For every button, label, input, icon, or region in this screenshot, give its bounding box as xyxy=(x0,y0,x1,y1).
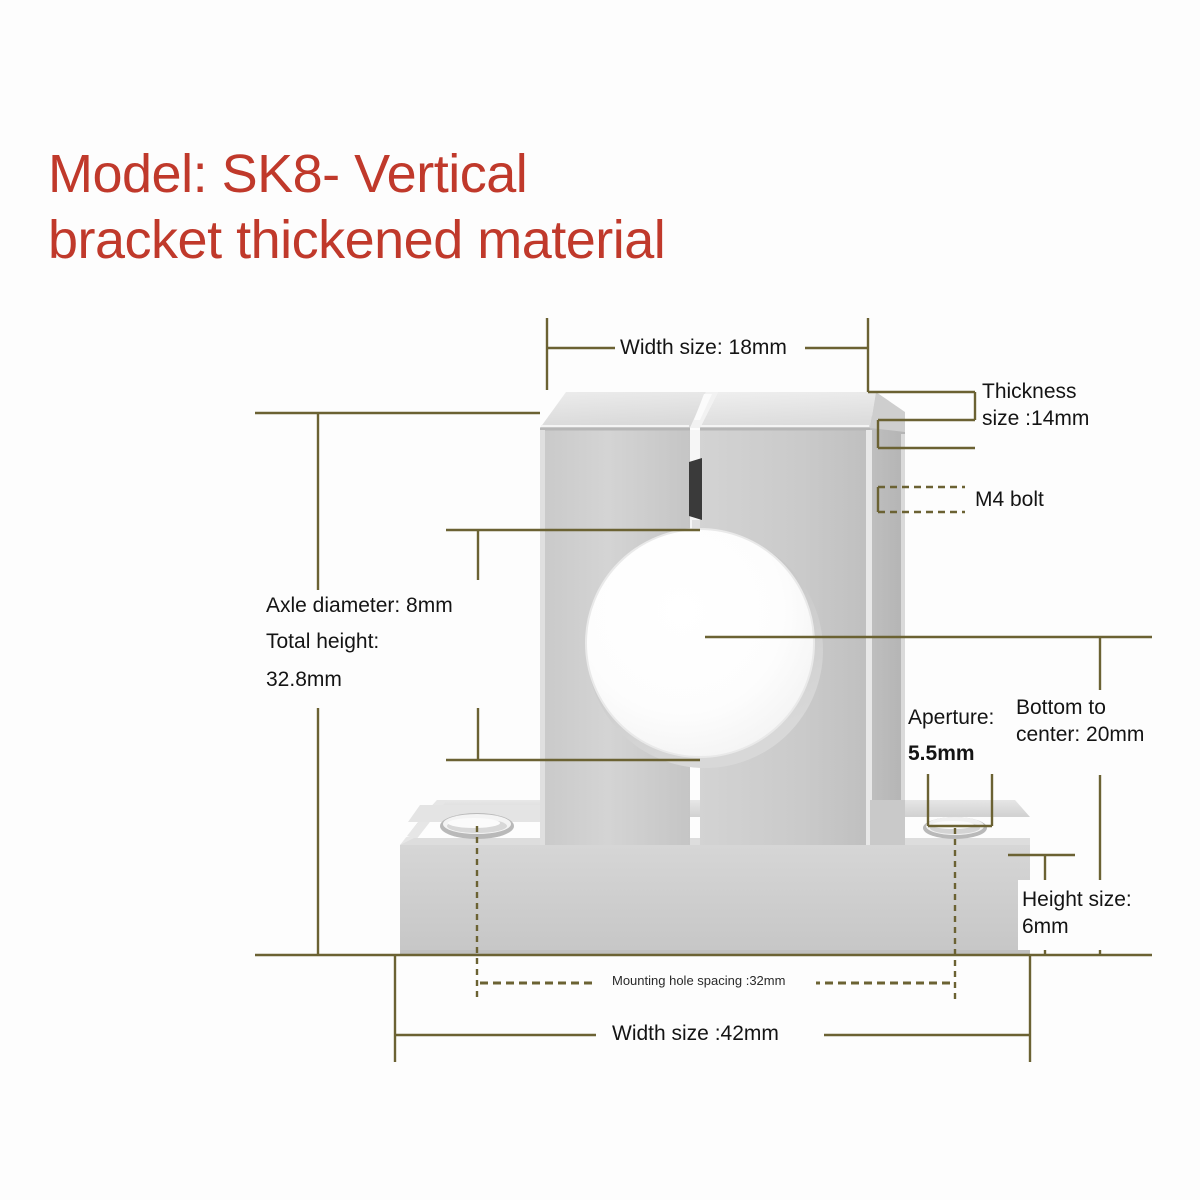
dim-m4-bolt xyxy=(878,487,965,512)
label-total-height-value: 32.8mm xyxy=(266,666,342,693)
label-mounting-hole-spacing: Mounting hole spacing :32mm xyxy=(612,973,785,990)
title-line-1: Model: SK8- Vertical xyxy=(48,144,527,204)
mounting-hole-left xyxy=(440,813,514,839)
body-base-junction-right xyxy=(870,800,905,845)
vertical-body xyxy=(540,392,905,845)
label-width-top: Width size: 18mm xyxy=(620,334,787,361)
label-height-size: Height size: 6mm xyxy=(1022,886,1132,941)
label-aperture: Aperture: xyxy=(908,704,994,731)
mounting-hole-right xyxy=(923,817,987,839)
label-axle-diameter: Axle diameter: 8mm xyxy=(266,592,453,619)
product-diagram-canvas: Model: SK8- Vertical bracket thickened m… xyxy=(0,0,1200,1200)
shaft-bore-hole xyxy=(586,529,823,768)
dim-thickness xyxy=(868,392,975,448)
dim-aperture xyxy=(928,768,992,826)
label-aperture-value: 5.5mm xyxy=(908,740,975,767)
label-width-bottom: Width size :42mm xyxy=(612,1020,779,1047)
label-m4-bolt: M4 bolt xyxy=(975,486,1044,513)
base-flange xyxy=(400,800,1030,955)
label-bottom-to-center: Bottom to center: 20mm xyxy=(1016,694,1144,749)
label-thickness: Thickness size :14mm xyxy=(982,378,1089,433)
label-total-height: Total height: xyxy=(266,628,379,655)
title-line-2: bracket thickened material xyxy=(48,210,665,270)
base-left-pad xyxy=(408,805,612,822)
page-title: Model: SK8- Vertical bracket thickened m… xyxy=(48,142,888,274)
